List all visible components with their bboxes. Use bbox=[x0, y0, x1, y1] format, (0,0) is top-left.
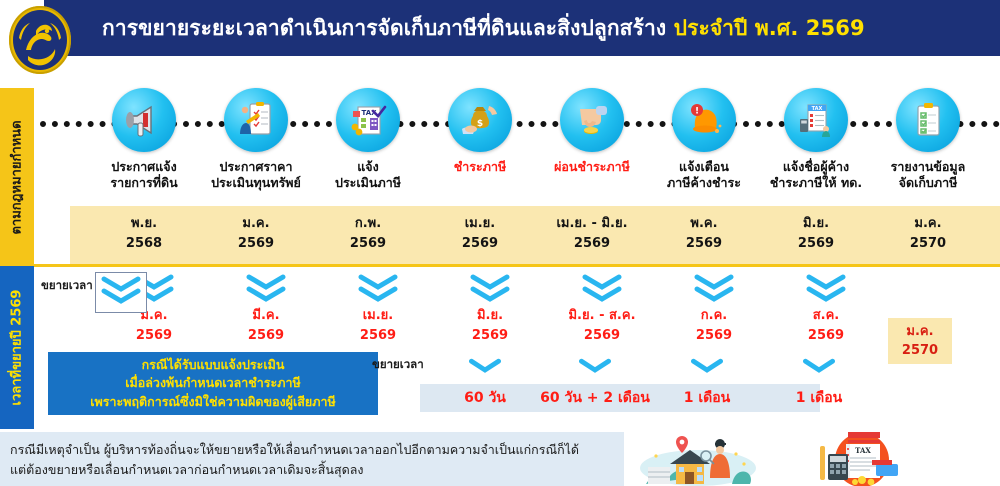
step-3-line2: ประเมินภาษี bbox=[335, 175, 401, 190]
step-3-line1: แจ้ง bbox=[357, 159, 378, 174]
ministry-emblem-icon bbox=[6, 4, 74, 76]
chevron-down-icon bbox=[802, 358, 836, 382]
alert-bell-icon: ! bbox=[672, 88, 736, 152]
timeline-step-1-caption: ประกาศแจ้ง รายการที่ดิน bbox=[88, 159, 200, 190]
duration-chip-2: 60 วัน + 2 เดือน bbox=[530, 388, 660, 408]
footer-note-line1: กรณีมีเหตุจำเป็น ผู้บริหารท้องถิ่นจะให้ข… bbox=[10, 440, 614, 460]
chevron-down-icon bbox=[581, 274, 623, 304]
timeline-step-5-caption: ผ่อนชำระภาษี bbox=[536, 159, 648, 175]
step-5-line1: ผ่อนชำระภาษี bbox=[554, 159, 630, 174]
chevron-down-icon bbox=[357, 274, 399, 304]
footer-note: กรณีมีเหตุจำเป็น ผู้บริหารท้องถิ่นจะให้ข… bbox=[0, 432, 624, 486]
duration-chevron-3 bbox=[642, 358, 772, 382]
sidebar-tab-extension-label: เวลาที่ขยายปี 2569 bbox=[11, 290, 24, 406]
tax-document-calculator-illustration: TAX bbox=[800, 430, 920, 486]
statutory-date-3: ก.พ.2569 bbox=[312, 214, 424, 254]
extension-label-first: ขยายเวลา bbox=[41, 277, 93, 295]
blue-note-line2: เมื่อล่วงพ้นกำหนดเวลาชำระภาษี bbox=[125, 374, 300, 392]
extension-col-5[interactable]: มิ.ย. - ส.ค.2569 bbox=[546, 274, 658, 345]
chevron-down-icon bbox=[468, 358, 502, 382]
chevron-down-icon bbox=[690, 358, 724, 382]
step-8-line2: จัดเก็บภาษี bbox=[899, 175, 958, 190]
duration-chevron-2 bbox=[530, 358, 660, 382]
header-bar: การขยายระยะเวลาดำเนินการจัดเก็บภาษีที่ดิ… bbox=[44, 0, 1000, 56]
extension-date-2: มี.ค.2569 bbox=[210, 306, 322, 345]
extension-date-6: ก.ค.2569 bbox=[658, 306, 770, 345]
statutory-date-5: เม.ย. - มิ.ย.2569 bbox=[536, 214, 648, 254]
duration-chevron-4 bbox=[754, 358, 884, 382]
step-2-line1: ประกาศราคา bbox=[220, 159, 293, 174]
svg-text:TAX: TAX bbox=[812, 106, 823, 112]
money-bag-hand-icon: $ bbox=[448, 88, 512, 152]
step-1-line1: ประกาศแจ้ง bbox=[111, 159, 176, 174]
blue-condition-note: กรณีได้รับแบบแจ้งประเมิน เมื่อล่วงพ้นกำห… bbox=[48, 352, 378, 415]
timeline-step-8[interactable]: รายงานข้อมูล จัดเก็บภาษี bbox=[872, 88, 984, 190]
timeline-step-4-caption: ชำระภาษี bbox=[424, 159, 536, 175]
step-4-line1: ชำระภาษี bbox=[454, 159, 506, 174]
svg-text:$: $ bbox=[477, 119, 483, 129]
coin-insert-hand-icon bbox=[560, 88, 624, 152]
step-7-line1: แจ้งชื่อผู้ค้าง bbox=[783, 159, 849, 174]
duration-chip-4: 1 เดือน bbox=[754, 388, 884, 408]
duration-chip-3: 1 เดือน bbox=[642, 388, 772, 408]
extension-col-2[interactable]: มี.ค.2569 bbox=[210, 274, 322, 345]
chevron-down-icon-selected bbox=[100, 276, 142, 306]
page-title-main: การขยายระยะเวลาดำเนินการจัดเก็บภาษีที่ดิ… bbox=[102, 16, 666, 40]
step-6-line2: ภาษีค้างชำระ bbox=[667, 175, 741, 190]
timeline-step-4[interactable]: $ ชำระภาษี bbox=[424, 88, 536, 175]
chevron-down-icon bbox=[245, 274, 287, 304]
extension-date-3: เม.ย.2569 bbox=[322, 306, 434, 345]
page-title-highlight: ประจำปี พ.ศ. 2569 bbox=[674, 16, 865, 40]
clipboard-person-icon bbox=[224, 88, 288, 152]
megaphone-icon bbox=[112, 88, 176, 152]
statutory-date-6: พ.ค.2569 bbox=[648, 214, 760, 254]
extension-divider bbox=[34, 264, 1000, 267]
extension-date-7: ส.ค.2569 bbox=[770, 306, 882, 345]
svg-text:TAX: TAX bbox=[855, 446, 871, 455]
unchanged-date-box: ม.ค. 2570 bbox=[888, 318, 952, 364]
svg-text:!: ! bbox=[695, 107, 699, 117]
timeline-step-2[interactable]: ประกาศราคา ประเมินทุนทรัพย์ bbox=[200, 88, 312, 190]
timeline-step-3-caption: แจ้ง ประเมินภาษี bbox=[312, 159, 424, 190]
report-clipboard-icon bbox=[896, 88, 960, 152]
sidebar-tab-extension: เวลาที่ขยายปี 2569 bbox=[0, 266, 34, 429]
statutory-date-4: เม.ย.2569 bbox=[424, 214, 536, 254]
timeline-step-1[interactable]: ประกาศแจ้ง รายการที่ดิน bbox=[88, 88, 200, 190]
extension-col-4[interactable]: มิ.ย.2569 bbox=[434, 274, 546, 345]
extension-col-7[interactable]: ส.ค.2569 bbox=[770, 274, 882, 345]
timeline-step-6-caption: แจ้งเตือน ภาษีค้างชำระ bbox=[648, 159, 760, 190]
statutory-date-8: ม.ค.2570 bbox=[872, 214, 984, 254]
sidebar-tab-statutory-label: ตามกฎหมายกำหนด bbox=[11, 120, 24, 234]
chevron-down-icon bbox=[805, 274, 847, 304]
timeline-step-6[interactable]: ! แจ้งเตือน ภาษีค้างชำระ bbox=[648, 88, 760, 190]
timeline-step-7-caption: แจ้งชื่อผู้ค้าง ชำระภาษีให้ ทด. bbox=[760, 159, 872, 190]
extension-date-4: มิ.ย.2569 bbox=[434, 306, 546, 345]
infographic-page: การขยายระยะเวลาดำเนินการจัดเก็บภาษีที่ดิ… bbox=[0, 0, 1000, 486]
step-8-line1: รายงานข้อมูล bbox=[891, 159, 966, 174]
blue-note-line1: กรณีได้รับแบบแจ้งประเมิน bbox=[142, 356, 285, 374]
unchanged-month: ม.ค. bbox=[906, 322, 933, 342]
house-inspector-illustration bbox=[636, 434, 786, 486]
timeline-step-7[interactable]: TAX แจ้งชื่อผู้ค้าง ชำระภาษีให้ ทด. bbox=[760, 88, 872, 190]
unchanged-year: 2570 bbox=[902, 341, 938, 361]
timeline-step-5[interactable]: ผ่อนชำระภาษี bbox=[536, 88, 648, 175]
chevron-down-icon bbox=[693, 274, 735, 304]
step-1-line2: รายการที่ดิน bbox=[110, 175, 177, 190]
timeline-step-2-caption: ประกาศราคา ประเมินทุนทรัพย์ bbox=[200, 159, 312, 190]
extension-date-5: มิ.ย. - ส.ค.2569 bbox=[546, 306, 658, 345]
statutory-date-1: พ.ย.2568 bbox=[88, 214, 200, 254]
chevron-down-icon bbox=[578, 358, 612, 382]
statutory-date-7: มิ.ย.2569 bbox=[760, 214, 872, 254]
tax-checklist-icon: TAX bbox=[784, 88, 848, 152]
blue-note-line3: เพราะพฤติการณ์ซึ่งมิใช่ความผิดของผู้เสีย… bbox=[90, 393, 335, 411]
timeline-step-3[interactable]: TAX แจ้ง ประเมินภาษี bbox=[312, 88, 424, 190]
footer-note-line2: แต่ต้องขยายหรือเลื่อนกำหนดเวลาก่อนกำหนดเ… bbox=[10, 460, 614, 480]
timeline-steps: ประกาศแจ้ง รายการที่ดิน bbox=[40, 88, 1000, 206]
extension-col-3[interactable]: เม.ย.2569 bbox=[322, 274, 434, 345]
extension-col-6[interactable]: ก.ค.2569 bbox=[658, 274, 770, 345]
sidebar-tab-statutory: ตามกฎหมายกำหนด bbox=[0, 88, 34, 266]
chevron-down-icon bbox=[469, 274, 511, 304]
page-title: การขยายระยะเวลาดำเนินการจัดเก็บภาษีที่ดิ… bbox=[102, 18, 865, 39]
extension-label-second: ขยายเวลา bbox=[372, 356, 424, 374]
step-6-line1: แจ้งเตือน bbox=[679, 159, 729, 174]
step-7-line2: ชำระภาษีให้ ทด. bbox=[770, 175, 862, 190]
timeline-step-8-caption: รายงานข้อมูล จัดเก็บภาษี bbox=[872, 159, 984, 190]
statutory-date-2: ม.ค.2569 bbox=[200, 214, 312, 254]
statutory-dates-band: พ.ย.2568 ม.ค.2569 ก.พ.2569 เม.ย.2569 เม.… bbox=[70, 206, 1000, 264]
tax-form-icon: TAX bbox=[336, 88, 400, 152]
step-2-line2: ประเมินทุนทรัพย์ bbox=[211, 175, 301, 190]
